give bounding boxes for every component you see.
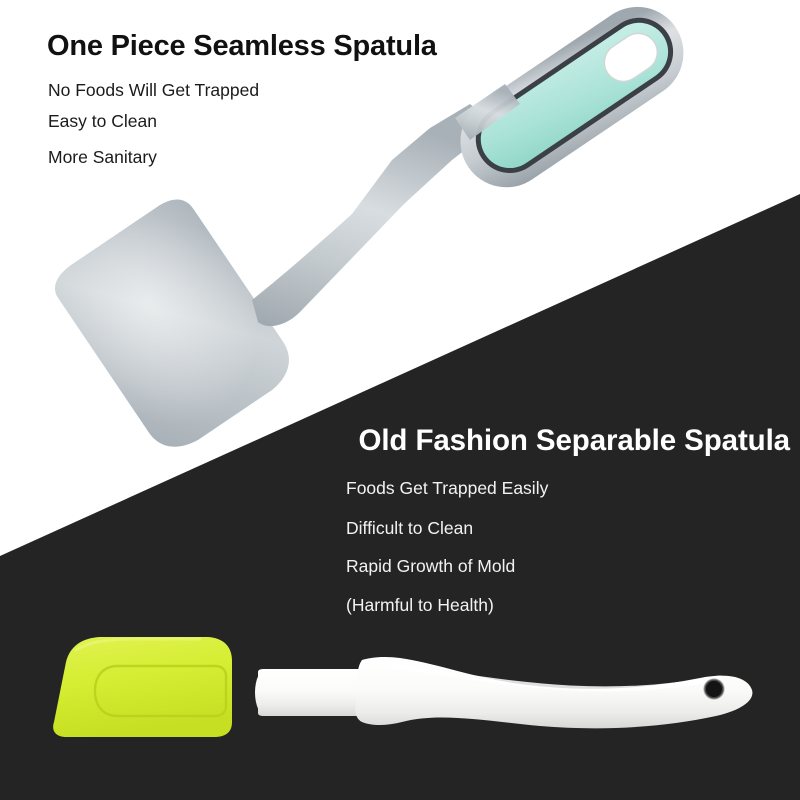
product-comparison-image: One Piece Seamless Spatula No Foods Will…	[0, 0, 800, 800]
drawback-list: Foods Get Trapped Easily Difficult to Cl…	[346, 476, 786, 614]
benefit-item: More Sanitary	[48, 149, 468, 167]
benefit-item: No Foods Will Get Trapped	[48, 82, 468, 100]
benefit-list: No Foods Will Get Trapped Easy to Clean …	[48, 78, 468, 167]
drawback-item: Difficult to Clean	[346, 520, 786, 538]
drawback-item: (Harmful to Health)	[346, 597, 786, 615]
page-title-top: One Piece Seamless Spatula	[47, 30, 437, 63]
drawback-item: Rapid Growth of Mold	[346, 558, 786, 576]
page-title-bottom: Old Fashion Separable Spatula	[358, 424, 790, 458]
benefit-item: Easy to Clean	[48, 113, 468, 131]
drawback-item: Foods Get Trapped Easily	[346, 480, 786, 498]
